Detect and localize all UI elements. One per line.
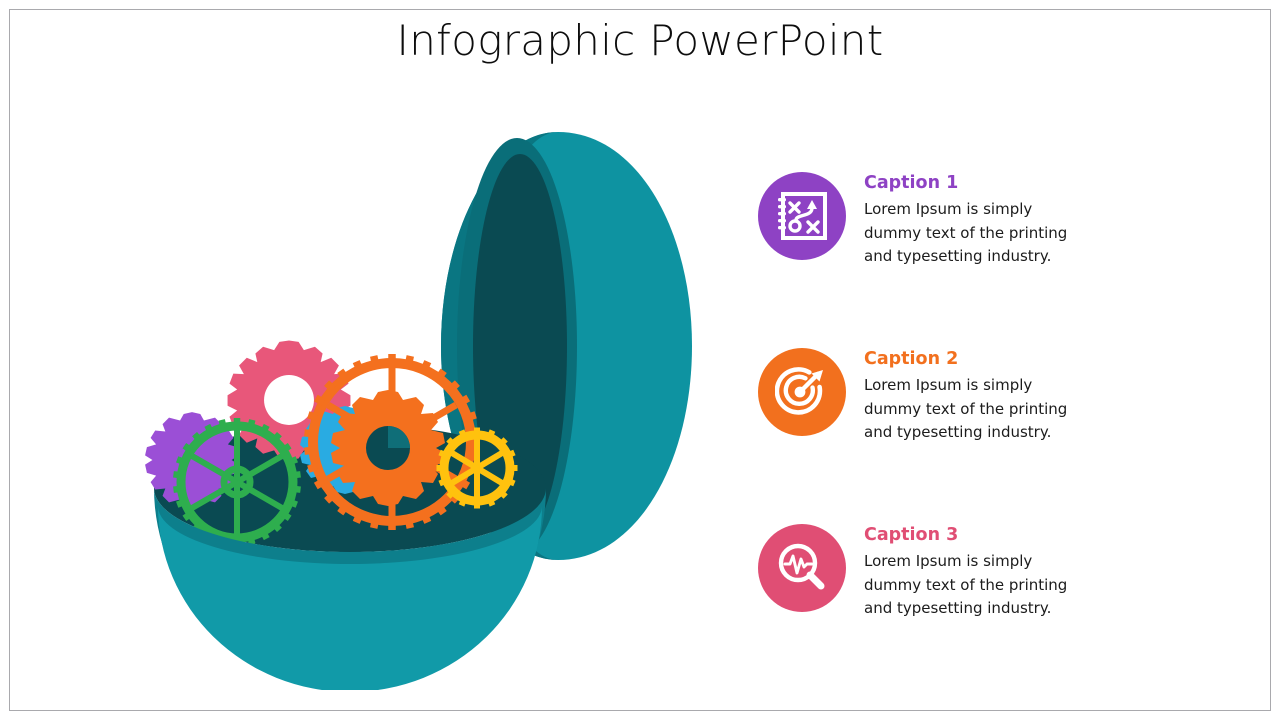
- caption-2-icon-badge[interactable]: [758, 348, 846, 436]
- caption-3-title: Caption 3: [864, 525, 1079, 546]
- caption-3-body: Lorem Ipsum is simply dummy text of the …: [864, 550, 1079, 621]
- captions-column: Caption 1 Lorem Ipsum is simply dummy te…: [758, 170, 1158, 670]
- caption-3-icon-badge[interactable]: [758, 524, 846, 612]
- caption-1-text: Caption 1 Lorem Ipsum is simply dummy te…: [864, 170, 1079, 269]
- caption-1-icon-badge[interactable]: [758, 172, 846, 260]
- page-title: Infographic PowerPoint: [0, 16, 1280, 65]
- target-arrow-icon: [775, 365, 829, 419]
- caption-2-body: Lorem Ipsum is simply dummy text of the …: [864, 374, 1079, 445]
- caption-block-2[interactable]: Caption 2 Lorem Ipsum is simply dummy te…: [758, 346, 1158, 471]
- caption-1-body: Lorem Ipsum is simply dummy text of the …: [864, 198, 1079, 269]
- caption-block-3[interactable]: Caption 3 Lorem Ipsum is simply dummy te…: [758, 522, 1158, 647]
- caption-block-1[interactable]: Caption 1 Lorem Ipsum is simply dummy te…: [758, 170, 1158, 295]
- magnifier-pulse-icon: [775, 541, 829, 595]
- open-sphere-gears-illustration: [110, 110, 710, 690]
- caption-3-text: Caption 3 Lorem Ipsum is simply dummy te…: [864, 522, 1079, 621]
- caption-1-title: Caption 1: [864, 173, 1079, 194]
- slide-canvas: Infographic PowerPoint: [0, 0, 1280, 720]
- caption-2-title: Caption 2: [864, 349, 1079, 370]
- strategy-notebook-icon: [776, 190, 828, 242]
- caption-2-text: Caption 2 Lorem Ipsum is simply dummy te…: [864, 346, 1079, 445]
